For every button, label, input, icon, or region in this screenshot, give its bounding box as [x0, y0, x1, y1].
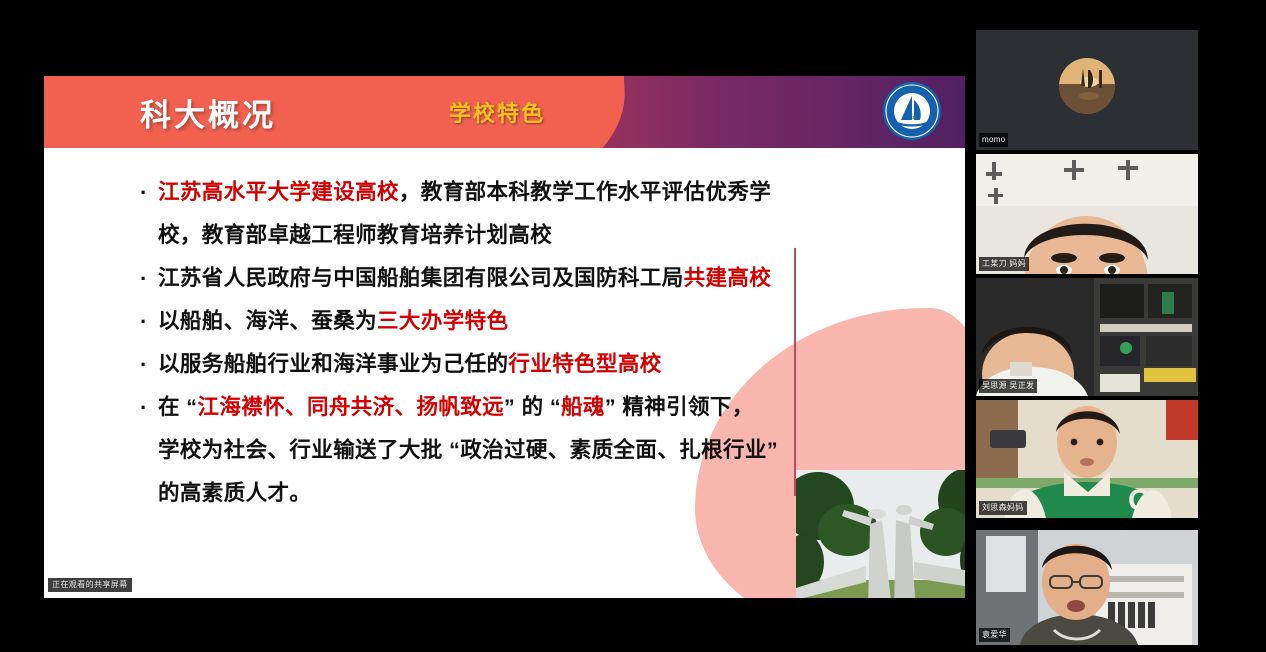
plain-phrase: 在 “ [158, 395, 197, 419]
bullet-marker-icon: · [140, 387, 158, 428]
bullet-marker-icon: · [140, 301, 158, 342]
participant-filmstrip[interactable]: momo 工某刀 妈妈 吴思源 吴正发 [965, 0, 1266, 652]
highlighted-phrase: 行业特色型高校 [508, 352, 661, 376]
bullet-text: 的高素质人才。 [158, 473, 840, 514]
participant-tile[interactable]: 吴思源 吴正发 [976, 278, 1198, 396]
presentation-slide: 科大概况 学校特色 1933 [44, 76, 965, 598]
participant-video [976, 154, 1198, 274]
bullet-text: 在 “江海襟怀、同舟共济、扬帆致远” 的 “船魂” 精神引领下， [158, 387, 840, 428]
participant-tile[interactable]: momo [976, 30, 1198, 150]
plain-phrase: 校，教育部卓越工程师教育培养计划高校 [158, 223, 552, 247]
bullet-marker-icon: · [140, 344, 158, 385]
svg-text:1933: 1933 [907, 115, 918, 120]
bullet-text: 江苏省人民政府与中国船舶集团有限公司及国防科工局共建高校 [158, 258, 840, 299]
bullet-line: 校，教育部卓越工程师教育培养计划高校 [140, 215, 840, 256]
avatar [1059, 58, 1115, 114]
slide-title: 科大概况 [140, 90, 276, 135]
plain-phrase: 学校为社会、行业输送了大批 “政治过硬、素质全面、扎根行业” [158, 438, 778, 462]
participant-name-label: 吴思源 吴正发 [979, 379, 1037, 393]
bullet-text: 校，教育部卓越工程师教育培养计划高校 [158, 215, 840, 256]
bullet-line: 的高素质人才。 [140, 473, 840, 514]
slide-header: 科大概况 学校特色 1933 [44, 76, 965, 148]
plain-phrase: 以船舶、海洋、蚕桑为 [158, 309, 377, 333]
plain-phrase: 的高素质人才。 [158, 481, 311, 505]
bullet-marker-icon: · [140, 258, 158, 299]
svg-text:C: C [1128, 484, 1150, 517]
bullet-line: ·以船舶、海洋、蚕桑为三大办学特色 [140, 301, 840, 342]
bullet-line: ·江苏高水平大学建设高校，教育部本科教学工作水平评估优秀学 [140, 172, 840, 213]
plain-phrase: 江苏省人民政府与中国船舶集团有限公司及国防科工局 [158, 266, 684, 290]
slide-body: ·江苏高水平大学建设高校，教育部本科教学工作水平评估优秀学校，教育部卓越工程师教… [44, 148, 965, 598]
bullet-text: 以服务船舶行业和海洋事业为己任的行业特色型高校 [158, 344, 840, 385]
highlighted-phrase: 江海襟怀、同舟共济、扬帆致远 [197, 395, 504, 419]
highlighted-phrase: 江苏高水平大学建设高校 [158, 180, 399, 204]
bullet-text: 以船舶、海洋、蚕桑为三大办学特色 [158, 301, 840, 342]
bullet-line: ·江苏省人民政府与中国船舶集团有限公司及国防科工局共建高校 [140, 258, 840, 299]
highlighted-phrase: 共建高校 [684, 266, 772, 290]
slide-subtitle: 学校特色 [449, 96, 545, 128]
plain-phrase: ” 精神引领下， [605, 395, 754, 419]
bullet-text: 学校为社会、行业输送了大批 “政治过硬、素质全面、扎根行业” [158, 430, 840, 471]
participant-tile[interactable]: C刘思森妈妈 [976, 400, 1198, 518]
bullet-text: 江苏高水平大学建设高校，教育部本科教学工作水平评估优秀学 [158, 172, 840, 213]
participant-tile[interactable]: 袁爱华 [976, 530, 1198, 645]
participant-name-label: 工某刀 妈妈 [979, 257, 1029, 271]
participant-name-label: momo [979, 133, 1008, 147]
bullet-line: 学校为社会、行业输送了大批 “政治过硬、素质全面、扎根行业” [140, 430, 840, 471]
plain-phrase: 以服务船舶行业和海洋事业为己任的 [158, 352, 508, 376]
participant-tile[interactable]: 工某刀 妈妈 [976, 154, 1198, 274]
meeting-window: 科大概况 学校特色 1933 [0, 0, 1266, 652]
bullet-line: ·在 “江海襟怀、同舟共济、扬帆致远” 的 “船魂” 精神引领下， [140, 387, 840, 428]
plain-phrase: ” 的 “ [504, 395, 561, 419]
highlighted-phrase: 船魂 [561, 395, 605, 419]
university-logo-icon: 1933 [881, 80, 943, 142]
highlighted-phrase: 三大办学特色 [377, 309, 508, 333]
bullet-line: ·以服务船舶行业和海洋事业为己任的行业特色型高校 [140, 344, 840, 385]
participant-name-label: 刘思森妈妈 [979, 501, 1027, 515]
plain-phrase: ，教育部本科教学工作水平评估优秀学 [399, 180, 771, 204]
bullet-list: ·江苏高水平大学建设高校，教育部本科教学工作水平评估优秀学校，教育部卓越工程师教… [140, 172, 840, 516]
participant-name-label: 袁爱华 [979, 628, 1010, 642]
screen-share-watermark: 正在观看的共享屏幕 [48, 578, 132, 592]
bullet-marker-icon: · [140, 172, 158, 213]
screen-share-stage: 科大概况 学校特色 1933 [0, 0, 965, 652]
